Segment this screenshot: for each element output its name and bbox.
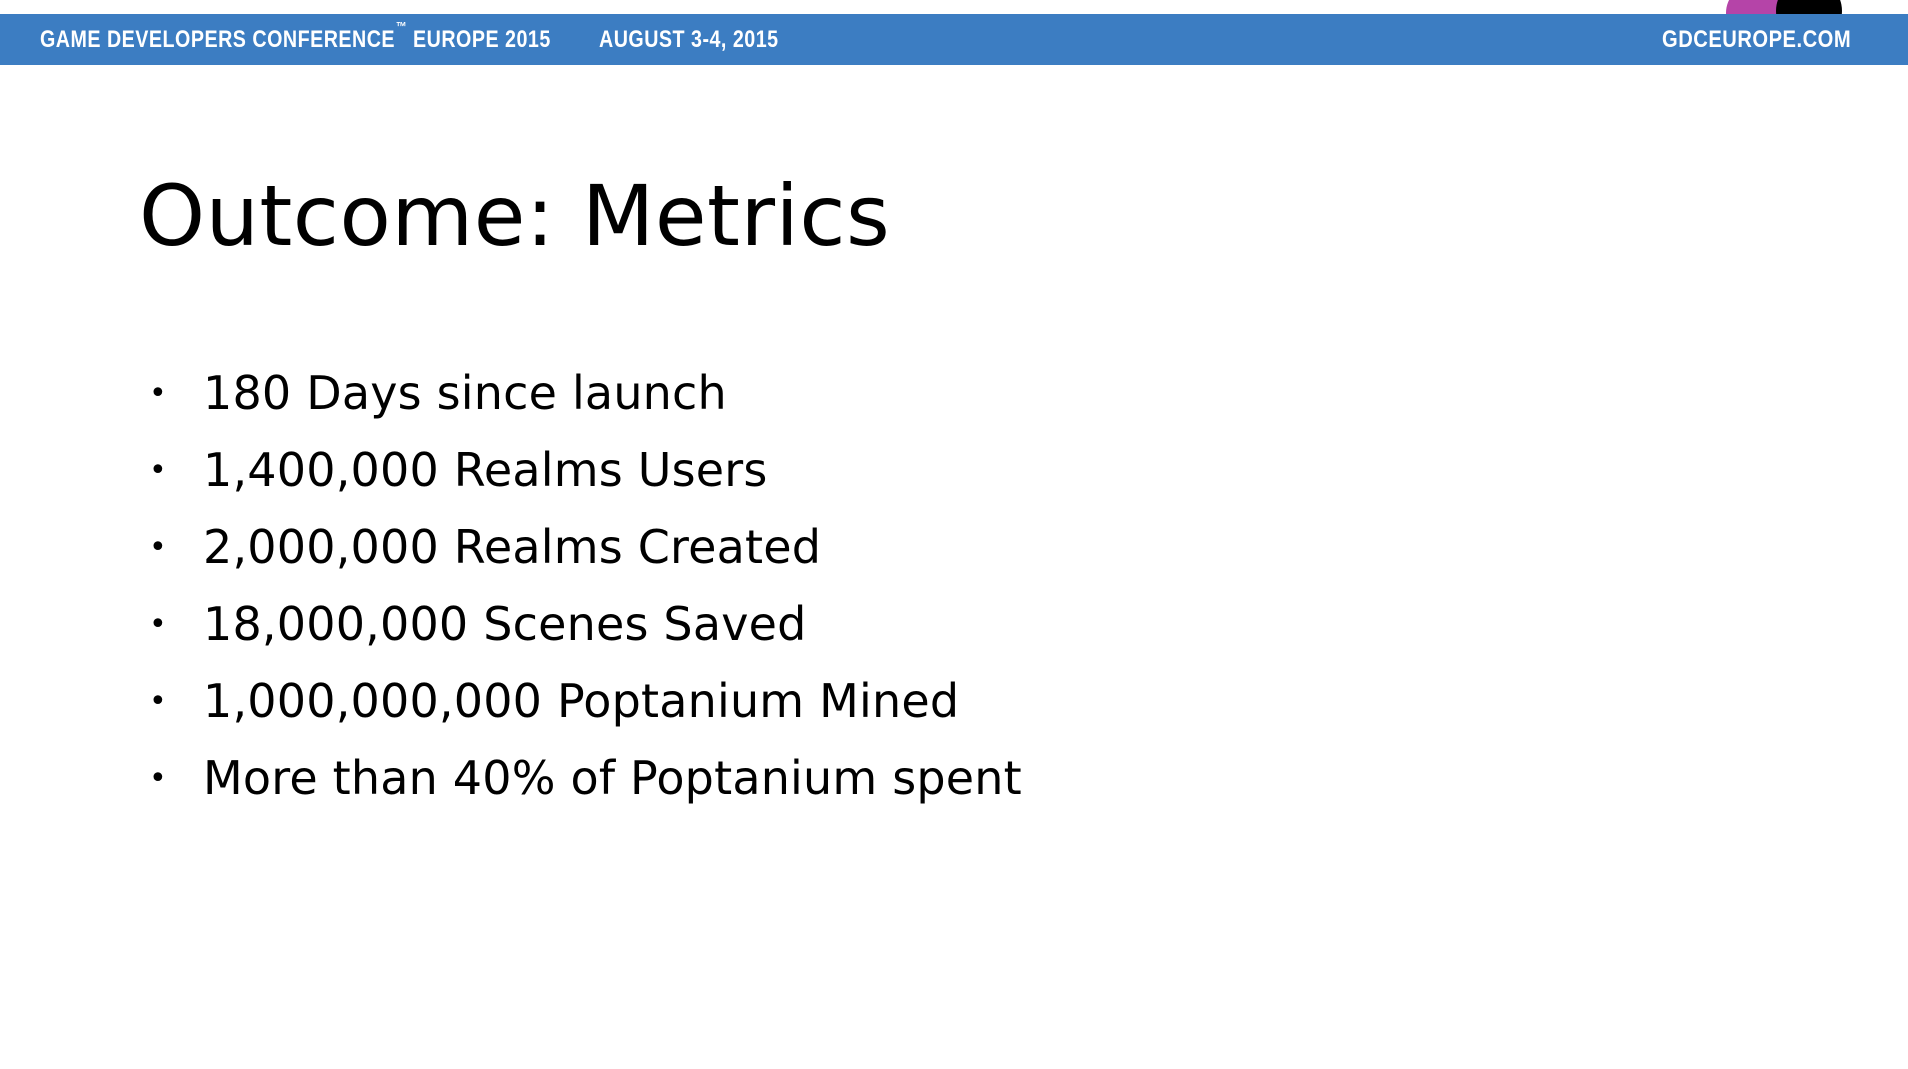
- bullet-icon: •: [139, 432, 203, 509]
- list-item-label: More than 40% of Poptanium spent: [203, 740, 1022, 817]
- list-item: • 180 Days since launch: [139, 355, 1699, 432]
- trademark-icon: ™: [396, 19, 407, 34]
- metrics-bullet-list: • 180 Days since launch • 1,400,000 Real…: [139, 355, 1699, 817]
- list-item: • 18,000,000 Scenes Saved: [139, 586, 1699, 663]
- conference-banner: GAME DEVELOPERS CONFERENCE™ EUROPE 2015 …: [0, 14, 1908, 65]
- list-item: • 1,000,000,000 Poptanium Mined: [139, 663, 1699, 740]
- page-title: Outcome: Metrics: [139, 172, 890, 260]
- list-item-label: 180 Days since launch: [203, 355, 727, 432]
- bullet-icon: •: [139, 586, 203, 663]
- list-item-label: 18,000,000 Scenes Saved: [203, 586, 807, 663]
- list-item-label: 1,400,000 Realms Users: [203, 432, 768, 509]
- bullet-icon: •: [139, 509, 203, 586]
- bullet-icon: •: [139, 740, 203, 817]
- list-item-label: 2,000,000 Realms Created: [203, 509, 821, 586]
- banner-left-group: GAME DEVELOPERS CONFERENCE™ EUROPE 2015 …: [40, 27, 818, 52]
- conference-website-label: GDCEUROPE.COM: [1662, 28, 1851, 52]
- presentation-slide: GAME DEVELOPERS CONFERENCE™ EUROPE 2015 …: [0, 0, 1908, 1069]
- conference-name-label: GAME DEVELOPERS CONFERENCE™ EUROPE 2015: [40, 27, 551, 52]
- conference-dates-label: AUGUST 3-4, 2015: [599, 28, 779, 52]
- list-item: • More than 40% of Poptanium spent: [139, 740, 1699, 817]
- list-item-label: 1,000,000,000 Poptanium Mined: [203, 663, 959, 740]
- bullet-icon: •: [139, 663, 203, 740]
- bullet-icon: •: [139, 355, 203, 432]
- list-item: • 1,400,000 Realms Users: [139, 432, 1699, 509]
- list-item: • 2,000,000 Realms Created: [139, 509, 1699, 586]
